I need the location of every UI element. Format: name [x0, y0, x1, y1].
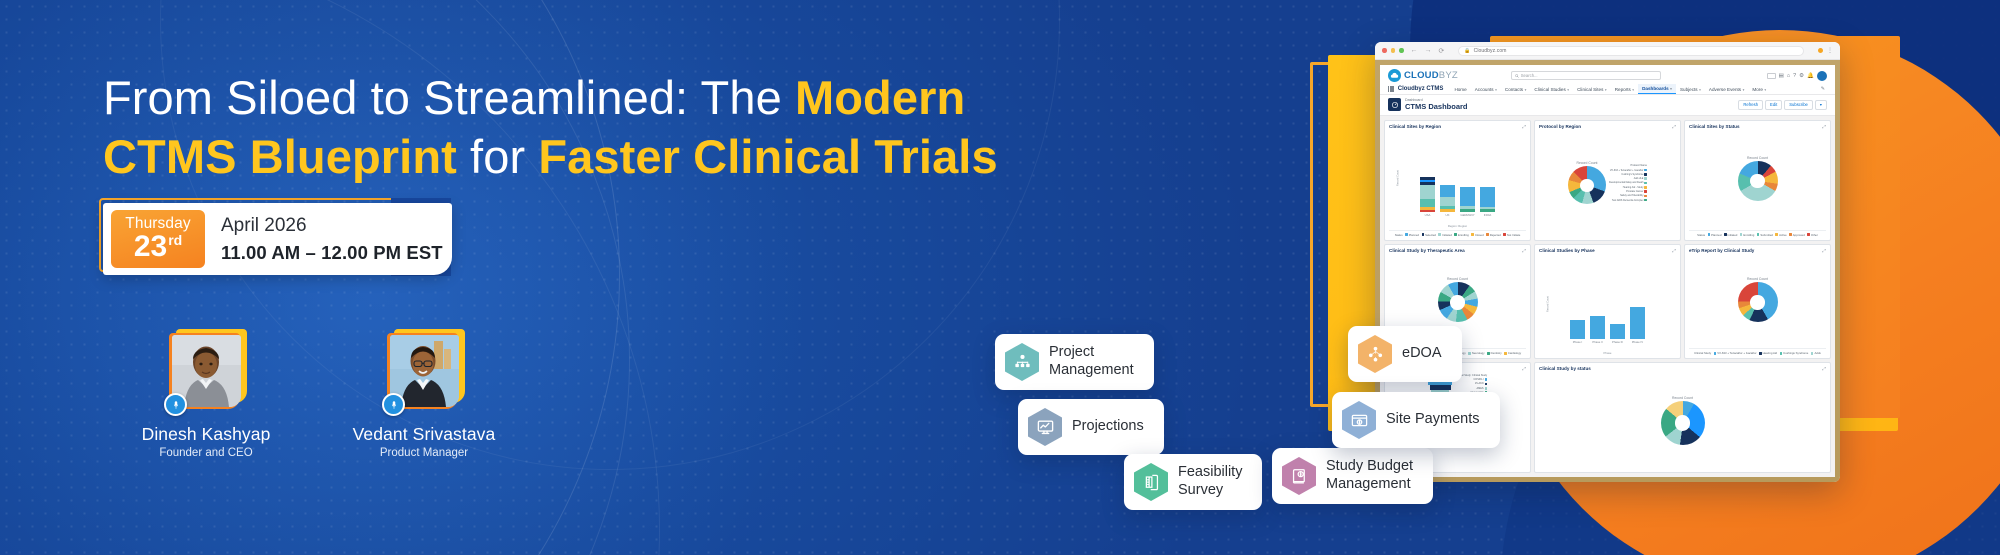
headline-line1-plain: From Siloed to Streamlined: The — [103, 71, 795, 124]
chevron-down-icon: ▾ — [1699, 88, 1701, 92]
legend-item: Submitted — [1757, 233, 1773, 237]
app-header-row: CLOUDBYZ Search... ▤ ⌂ ? ⚙ 🔔 — [1388, 69, 1827, 82]
bar-label: GERMANY — [1460, 213, 1474, 217]
panel-etrip-report-by-clinical-study[interactable]: eTrip Report by Clinical Study⤢ Record C… — [1684, 244, 1831, 360]
logo-text: CLOUDBYZ — [1404, 70, 1458, 81]
app-header: CLOUDBYZ Search... ▤ ⌂ ? ⚙ 🔔 — [1380, 65, 1835, 95]
legend-item: Safety and Tolerability — [1609, 194, 1647, 197]
date-day-number: 23rd — [134, 232, 182, 263]
url-text: Cloudbyz.com — [1474, 48, 1507, 54]
delegation-icon — [1358, 335, 1392, 373]
org-chart-icon — [1005, 343, 1039, 381]
star-icon[interactable] — [1767, 73, 1776, 79]
donut-chart — [1661, 401, 1705, 445]
feature-card-site-payments[interactable]: Site Payments — [1332, 392, 1500, 448]
chart-subtitle: Record Count — [1672, 396, 1693, 400]
page-title: From Siloed to Streamlined: The Modern C… — [103, 68, 1113, 186]
bar-label: UK — [1446, 213, 1450, 217]
lock-icon: 🔒 — [1464, 48, 1470, 54]
date-day-of-week: Thursday — [125, 216, 190, 232]
legend-item: Hearing Aid — [1759, 351, 1777, 355]
gear-icon[interactable]: ⚙ — [1799, 73, 1804, 79]
expand-icon[interactable]: ⤢ — [1822, 124, 1826, 129]
legend-item: Hearing Aid - Study — [1609, 186, 1647, 189]
avatar — [169, 333, 243, 411]
cloudbyz-logo[interactable]: CLOUDBYZ — [1388, 69, 1458, 82]
bar-chart: USA UK — [1420, 129, 1495, 224]
product-screenshot-mockup: ← → ⟳ 🔒 Cloudbyz.com ⋮ — [1240, 0, 2000, 555]
document-scale-icon — [1134, 463, 1168, 501]
y-axis-label: Record Count — [1547, 296, 1550, 312]
headline-line1-accent: Modern — [795, 71, 965, 124]
chevron-down-icon: ▾ — [1567, 88, 1569, 92]
chart-legend: Protocol Name VX-633 + Tezacaftor + Ivac… — [1609, 164, 1647, 201]
expand-icon[interactable]: ⤢ — [1522, 366, 1526, 371]
legend-item: Closed — [1471, 233, 1483, 237]
chevron-down-icon: ▾ — [1670, 87, 1672, 91]
chart-legend: Status Planned Selected Initiated Enroll… — [1389, 230, 1526, 237]
user-avatar[interactable] — [1817, 71, 1827, 81]
bar-label: Phase IV — [1632, 340, 1643, 344]
bar-label: INDIA — [1484, 213, 1491, 217]
legend-item: 15-AKN — [1456, 382, 1488, 385]
chevron-down-icon: ▾ — [1764, 88, 1766, 92]
bar-label: Phase II — [1592, 340, 1602, 344]
chevron-down-icon: ▾ — [1632, 88, 1634, 92]
microphone-icon — [164, 393, 187, 416]
panel-clinical-sites-by-status[interactable]: Clinical Sites by Status⤢ Record Count S… — [1684, 120, 1831, 241]
legend-item: Neurology — [1468, 351, 1484, 355]
feature-card-label: Projections — [1072, 418, 1144, 436]
nav-item-accounts[interactable]: Accounts▾ — [1471, 85, 1501, 94]
bar-phase-3: Phase III — [1610, 324, 1625, 344]
search-placeholder: Search... — [1521, 73, 1538, 78]
feature-card-label: Study Budget Management — [1326, 458, 1413, 493]
legend-item: Approved — [1789, 233, 1805, 237]
feature-card-projections[interactable]: Projections — [1018, 399, 1164, 455]
legend-item: Cushing's Syndrome — [1609, 173, 1647, 176]
chevron-down-icon: ▾ — [1495, 88, 1497, 92]
nav-item-contacts[interactable]: Contacts▾ — [1501, 85, 1530, 94]
chevron-down-icon: ▾ — [1743, 88, 1745, 92]
legend-item: AMES — [1456, 387, 1488, 390]
subscribe-button[interactable]: Subscribe — [1784, 100, 1813, 110]
expand-icon[interactable]: ⤢ — [1672, 124, 1676, 129]
x-axis-label: Phase — [1604, 351, 1612, 355]
nav-item-reports[interactable]: Reports▾ — [1611, 85, 1638, 94]
speaker-role: Founder and CEO — [130, 447, 282, 459]
bar-phase-2: Phase II — [1590, 316, 1605, 344]
chart-subtitle: Record Count — [1747, 156, 1768, 160]
donut-chart — [1738, 161, 1778, 201]
date-month-year: April 2026 — [221, 212, 452, 240]
legend-item: Dentistry — [1487, 351, 1502, 355]
bell-icon[interactable]: 🔔 — [1807, 73, 1814, 79]
app-navigation: Cloudbyz CTMS Home Accounts▾ Contacts▾ C… — [1388, 82, 1827, 94]
legend-item: Cushings Syndrome — [1780, 351, 1809, 355]
search-input[interactable]: Search... — [1511, 71, 1661, 80]
dashboard-title-block: Dashboard CTMS Dashboard — [1405, 98, 1468, 112]
legend-item: Planned — [1708, 233, 1722, 237]
date-badge-details: April 2026 11.00 AM – 12.00 PM EST — [205, 203, 452, 275]
chart-area: Record Count USA — [1389, 129, 1526, 228]
speaker-card: Dinesh Kashyap Founder and CEO — [130, 333, 282, 459]
chart-legend: Status Planned Initiated Enrolling Submi… — [1689, 230, 1826, 237]
avatar — [387, 333, 461, 411]
expand-icon[interactable]: ⤢ — [1672, 248, 1676, 253]
dashboard-subheader: Dashboard CTMS Dashboard Refresh Edit Su… — [1380, 95, 1835, 116]
page-title: CTMS Dashboard — [1405, 102, 1468, 111]
payment-card-icon — [1342, 401, 1376, 439]
speaker-name: Vedant Srivastava — [348, 424, 500, 445]
date-badge: Thursday 23rd April 2026 11.00 AM – 12.0… — [103, 203, 452, 275]
search-icon — [1515, 74, 1519, 78]
edit-button[interactable]: Edit — [1765, 100, 1782, 110]
chart-subtitle: Record Count — [1747, 277, 1768, 281]
feature-card-edoa[interactable]: eDOA — [1348, 326, 1462, 382]
panel-protocol-by-region[interactable]: Protocol by Region⤢ Record Count Protoco… — [1534, 120, 1681, 241]
legend-item: Not Initiate — [1503, 233, 1520, 237]
donut-chart — [1568, 166, 1606, 204]
app-launcher-icon[interactable] — [1388, 86, 1394, 92]
chart-subtitle: Record Count — [1447, 277, 1468, 281]
microphone-icon — [382, 393, 405, 416]
chart-area: Record Count Phase I Phase II — [1539, 253, 1676, 355]
browser-toolbar-right: ⋮ — [1818, 47, 1833, 54]
nav-item-clinical-sites[interactable]: Clinical Sites▾ — [1573, 85, 1611, 94]
legend-item: Developmental Delay and Death — [1609, 181, 1647, 184]
chart-area: Record Count — [1689, 129, 1826, 228]
legend-item: Selected — [1422, 233, 1436, 237]
legend-item: Rejected — [1486, 233, 1501, 237]
legend-item: Cardiology — [1504, 351, 1521, 355]
arrow-right-icon[interactable]: → — [1425, 47, 1432, 54]
speaker-card: Vedant Srivastava Product Manager — [348, 333, 500, 459]
more-actions-button[interactable]: ▾ — [1815, 100, 1827, 110]
bar-usa: USA — [1420, 177, 1435, 217]
legend-item: Add-ULE — [1609, 177, 1647, 180]
panel-clinical-sites-by-region[interactable]: Clinical Sites by Region⤢ Record Count — [1384, 120, 1531, 241]
legend-item: Enrolling — [1454, 233, 1468, 237]
feature-card-label: eDOA — [1402, 345, 1442, 363]
legend-item: Prostate Cancer — [1609, 190, 1647, 193]
speaker-role: Product Manager — [348, 447, 500, 459]
address-bar[interactable]: 🔒 Cloudbyz.com — [1458, 46, 1804, 56]
expand-icon[interactable]: ⤢ — [1522, 248, 1526, 253]
headline-line2-accent-a: CTMS Blueprint — [103, 130, 457, 183]
bar-label: Phase III — [1612, 340, 1623, 344]
app-name: Cloudbyz CTMS — [1398, 86, 1444, 92]
legend-item: VX-633 + Tezacaftor + Ivacaftor — [1714, 351, 1757, 355]
headline-line2-plain: for — [457, 130, 538, 183]
legend-item: VX-633 + Tezacaftor + Ivacaftor — [1609, 169, 1647, 172]
reload-icon[interactable]: ⟳ — [1439, 47, 1445, 55]
legend-title: Clinical Study — [1694, 351, 1711, 355]
chart-area: Record Count — [1539, 372, 1826, 469]
expand-icon[interactable]: ⤢ — [1822, 248, 1826, 253]
panel-clinical-study-by-status[interactable]: Clinical Study by status⤢ Record Count — [1534, 362, 1831, 473]
legend-item: Initiated — [1438, 233, 1451, 237]
feature-card-label: Site Payments — [1386, 411, 1480, 429]
date-badge-day-block: Thursday 23rd — [111, 210, 205, 268]
bar-label: USA — [1425, 213, 1431, 217]
headline-line2-accent-b: Faster Clinical Trials — [538, 130, 997, 183]
chart-area: Record Count — [1689, 253, 1826, 346]
bar-label: Phase I — [1573, 340, 1583, 344]
budget-book-icon — [1282, 457, 1316, 495]
banner-left-content: From Siloed to Streamlined: The Modern C… — [0, 0, 1120, 555]
expand-icon[interactable]: ⤢ — [1822, 366, 1826, 371]
browser-toolbar: ← → ⟳ 🔒 Cloudbyz.com ⋮ — [1375, 42, 1840, 60]
window-maximize-icon[interactable] — [1399, 48, 1404, 53]
app-header-icons: ▤ ⌂ ? ⚙ 🔔 — [1767, 71, 1827, 81]
help-icon[interactable]: ? — [1793, 73, 1796, 79]
nav-item-subjects[interactable]: Subjects▾ — [1676, 85, 1705, 94]
donut-chart — [1738, 282, 1778, 322]
speaker-name: Dinesh Kashyap — [130, 424, 282, 445]
donut-chart — [1438, 282, 1478, 322]
nav-item-home[interactable]: Home — [1450, 85, 1470, 94]
arrow-left-icon[interactable]: ← — [1411, 47, 1418, 54]
legend-item: Other — [1807, 233, 1818, 237]
nav-item-adverse-events[interactable]: Adverse Events▾ — [1705, 85, 1749, 94]
legend-item: Test AIDS Dementia Complex — [1609, 199, 1647, 202]
nav-item-dashboards[interactable]: Dashboards▾ — [1638, 84, 1676, 94]
legend-item: Adds — [1811, 351, 1821, 355]
legend-item: Enrolling — [1740, 233, 1754, 237]
monitor-chart-icon — [1028, 408, 1062, 446]
y-axis-label: Record Count — [1397, 170, 1400, 186]
chevron-down-icon: ▾ — [1525, 88, 1527, 92]
bar-india: INDIA — [1480, 187, 1495, 217]
edit-pencil-icon[interactable]: ✎ — [1821, 86, 1827, 92]
legend-item: COSPA-I — [1456, 378, 1488, 381]
chart-legend: Clinical Study VX-633 + Tezacaftor + Iva… — [1689, 348, 1826, 355]
bar-phase-4: Phase IV — [1630, 307, 1645, 344]
extension-icon[interactable] — [1818, 48, 1823, 53]
chart-area: Record Count Protocol Name VX-633 + Teza… — [1539, 129, 1676, 237]
feature-card-label: Feasibility Survey — [1178, 464, 1242, 499]
chart-subtitle: Record Count — [1577, 161, 1598, 165]
apps-icon[interactable]: ▤ — [1779, 73, 1784, 79]
bar-uk: UK — [1440, 185, 1455, 217]
legend-item: Planned — [1405, 233, 1419, 237]
window-minimize-icon[interactable] — [1391, 48, 1396, 53]
date-badge-card: Thursday 23rd April 2026 11.00 AM – 12.0… — [103, 203, 452, 275]
chevron-down-icon: ▾ — [1605, 88, 1607, 92]
bar-chart: Phase I Phase II Phase III — [1570, 253, 1645, 351]
feature-card-project-management[interactable]: Project Management — [995, 334, 1154, 390]
date-day-suffix: rd — [168, 232, 182, 248]
nav-item-more[interactable]: More▾ — [1748, 85, 1770, 94]
legend-title: Status — [1395, 233, 1403, 237]
date-time-range: 11.00 AM – 12.00 PM EST — [221, 240, 452, 266]
window-close-icon[interactable] — [1382, 48, 1387, 53]
legend-title: Protocol Name — [1609, 164, 1647, 167]
feature-card-feasibility-survey[interactable]: Feasibility Survey — [1124, 454, 1262, 510]
bar-phase-1: Phase I — [1570, 320, 1585, 344]
bar-germany: GERMANY — [1460, 187, 1475, 217]
home-icon[interactable]: ⌂ — [1787, 73, 1790, 79]
x-axis-label: Region: Region — [1448, 224, 1467, 228]
speakers-list: Dinesh Kashyap Founder and CEO — [130, 333, 500, 459]
dashboard-icon — [1388, 98, 1401, 111]
feature-card-label: Project Management — [1049, 344, 1134, 379]
legend-item: Initiated — [1724, 233, 1737, 237]
panel-clinical-studies-by-phase[interactable]: Clinical Studies by Phase⤢ Record Count … — [1534, 244, 1681, 360]
legend-title: Status — [1697, 233, 1705, 237]
cloud-icon — [1388, 69, 1401, 82]
legend-item: Active — [1775, 233, 1786, 237]
dashboard-actions: Refresh Edit Subscribe ▾ — [1738, 100, 1827, 110]
kebab-menu-icon[interactable]: ⋮ — [1827, 47, 1833, 54]
refresh-button[interactable]: Refresh — [1738, 100, 1763, 110]
nav-item-clinical-studies[interactable]: Clinical Studies▾ — [1530, 85, 1573, 94]
expand-icon[interactable]: ⤢ — [1522, 124, 1526, 129]
feature-card-study-budget-management[interactable]: Study Budget Management — [1272, 448, 1433, 504]
